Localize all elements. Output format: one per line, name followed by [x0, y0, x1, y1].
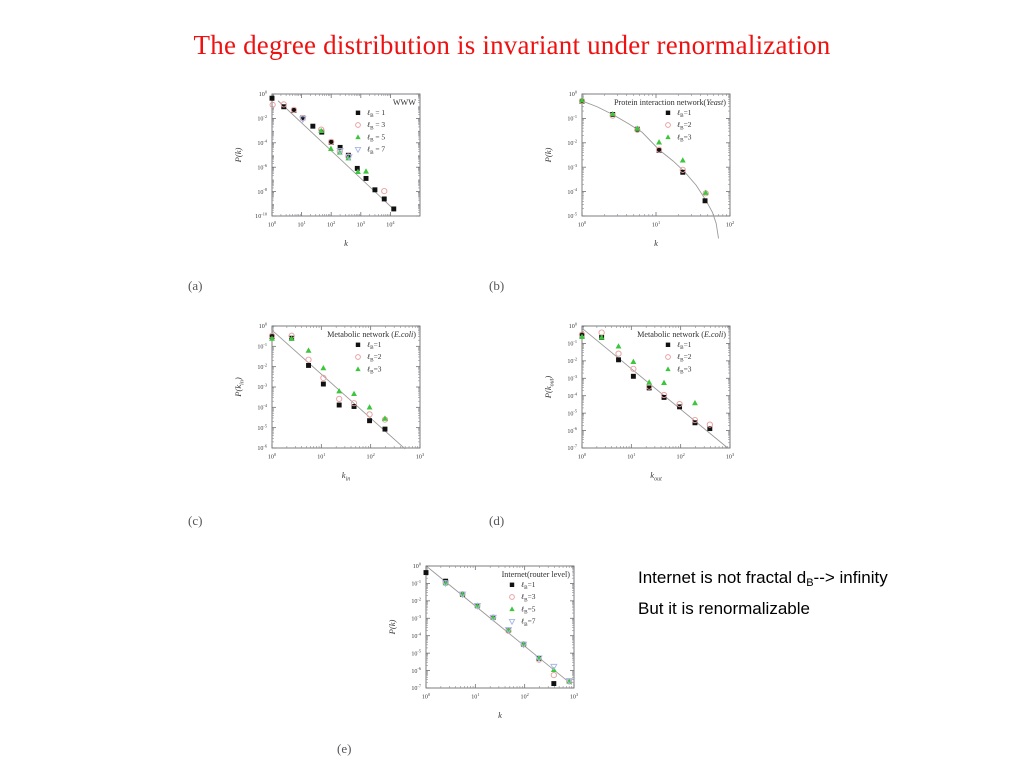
svg-text:100: 100	[422, 692, 430, 701]
chart-panel-protein: 10010110210010-110-210-310-410-5kP(k)Pro…	[542, 84, 742, 250]
panel-a-legend: ℓB = 1ℓB = 3ℓB = 5ℓB = 7	[355, 108, 385, 156]
svg-text:103: 103	[416, 452, 424, 461]
panel-a-title: WWW	[393, 98, 416, 107]
svg-text:102: 102	[367, 452, 375, 461]
panel-c-x-axis: 100101102103	[268, 326, 424, 461]
panel-d-legend-label-0: ℓB=1	[677, 340, 692, 351]
panel-label-a: (a)	[188, 278, 202, 294]
svg-text:100: 100	[268, 220, 276, 229]
svg-text:10-4: 10-4	[411, 631, 422, 640]
panel-a-series-3	[300, 117, 352, 160]
panel-c-legend-label-1: ℓB=2	[367, 352, 382, 363]
panel-c-legend-label-2: ℓB=3	[367, 364, 382, 375]
panel-e-title: Internet(router level)	[502, 570, 571, 579]
panel-a-y-axis: 10010-210-410-610-810-10	[255, 90, 420, 221]
panel-d-series-0	[580, 333, 713, 431]
svg-text:100: 100	[578, 220, 586, 229]
panel-d-legend: ℓB=1ℓB=2ℓB=3	[665, 340, 691, 376]
panel-e-legend-label-1: ℓB=3	[521, 592, 536, 603]
panel-e-legend-label-2: ℓB=5	[521, 604, 536, 615]
panel-b-svg: 10010110210010-110-210-310-410-5kP(k)Pro…	[542, 84, 742, 250]
svg-text:10-4: 10-4	[567, 391, 578, 400]
svg-text:101: 101	[627, 452, 635, 461]
panel-b-fit-curve	[582, 101, 719, 239]
svg-text:10-7: 10-7	[411, 684, 422, 693]
panel-b-ylabel: P(k)	[543, 147, 553, 163]
panel-a-series-2	[318, 128, 369, 174]
svg-text:102: 102	[726, 220, 734, 229]
svg-text:103: 103	[726, 452, 734, 461]
panel-b-legend: ℓB=1ℓB=2ℓB=3	[665, 108, 691, 144]
chart-panel-www: 10010110210310410010-210-410-610-810-10k…	[232, 84, 432, 250]
panel-d-x-axis: 100101102103	[578, 326, 734, 461]
panel-label-d: (d)	[489, 513, 504, 529]
panel-d-series-1	[579, 330, 712, 427]
svg-text:P(k): P(k)	[233, 147, 243, 163]
svg-text:102: 102	[327, 220, 335, 229]
annotation-subscript: B	[806, 577, 813, 589]
panel-e-legend-label-3: ℓB=7	[521, 617, 536, 628]
svg-text:103: 103	[357, 220, 365, 229]
chart-panel-internet: 10010110210310010-110-210-310-410-510-61…	[386, 556, 586, 722]
panel-a-legend-label-3: ℓB = 7	[367, 145, 385, 156]
svg-text:10-6: 10-6	[567, 426, 578, 435]
svg-text:10-1: 10-1	[567, 339, 577, 348]
svg-text:10-4: 10-4	[257, 138, 268, 147]
svg-text:10-2: 10-2	[257, 362, 267, 371]
svg-text:10-5: 10-5	[567, 212, 577, 221]
panel-c-legend: ℓB=1ℓB=2ℓB=3	[355, 340, 381, 376]
svg-text:P(k): P(k)	[543, 147, 553, 163]
svg-text:100: 100	[259, 90, 267, 99]
panel-label-e: (e)	[337, 741, 351, 757]
page-title: The degree distribution is invariant und…	[0, 30, 1024, 61]
panel-e-series-0	[424, 570, 557, 686]
svg-text:101: 101	[297, 220, 305, 229]
svg-text:10-6: 10-6	[411, 666, 422, 675]
svg-text:104: 104	[386, 220, 395, 229]
svg-text:10-6: 10-6	[257, 444, 268, 453]
svg-text:101: 101	[317, 452, 325, 461]
svg-text:10-2: 10-2	[411, 596, 421, 605]
svg-text:10-3: 10-3	[411, 614, 421, 623]
panel-label-c: (c)	[188, 513, 202, 529]
panel-a-fit-line	[278, 101, 394, 210]
svg-text:10-1: 10-1	[567, 114, 577, 123]
panel-e-svg: 10010110210310010-110-210-310-410-510-61…	[386, 556, 586, 722]
panel-e-ylabel: P(k)	[387, 619, 397, 635]
svg-text:10-3: 10-3	[257, 383, 267, 392]
chart-panel-metabolic-out: 10010110210310010-110-210-310-410-510-61…	[542, 316, 742, 482]
panel-e-xlabel: k	[498, 710, 502, 720]
panel-c-xlabel: kin	[342, 470, 351, 482]
svg-text:100: 100	[569, 90, 577, 99]
panel-b-legend-label-1: ℓB=2	[677, 120, 692, 131]
svg-text:P(k): P(k)	[387, 619, 397, 635]
annotation-line-1-post: --> infinity	[814, 568, 888, 587]
panel-b-legend-label-2: ℓB=3	[677, 132, 692, 143]
svg-text:10-7: 10-7	[567, 444, 578, 453]
panel-b-legend-label-0: ℓB=1	[677, 108, 692, 119]
svg-text:100: 100	[259, 322, 267, 331]
panel-d-fit-line	[582, 328, 728, 448]
svg-text:100: 100	[578, 452, 586, 461]
panel-c-y-axis: 10010-110-210-310-410-510-6	[257, 322, 420, 453]
panel-a-xlabel: k	[344, 238, 348, 248]
svg-text:100: 100	[268, 452, 276, 461]
svg-text:10-2: 10-2	[567, 138, 577, 147]
svg-text:P(kout): P(kout)	[543, 376, 555, 400]
panel-a-legend-label-1: ℓB = 3	[367, 120, 385, 131]
annotation-line-1-pre: Internet is not fractal d	[638, 568, 806, 587]
panel-label-b: (b)	[489, 278, 504, 294]
svg-text:P(kin): P(kin)	[233, 377, 245, 398]
panel-e-fit-line	[428, 568, 572, 685]
panel-a-legend-label-0: ℓB = 1	[367, 108, 385, 119]
annotation-text: Internet is not fractal dB--> infinity B…	[638, 565, 888, 621]
svg-text:10-2: 10-2	[567, 356, 577, 365]
panel-b-title: Protein interaction network(Yeast)	[614, 98, 726, 107]
panel-d-svg: 10010110210310010-110-210-310-410-510-61…	[542, 316, 742, 482]
svg-text:10-4: 10-4	[257, 403, 268, 412]
panel-d-title: Metabolic network (E.coli)	[637, 330, 726, 339]
panel-a-svg: 10010110210310410010-210-410-610-810-10k…	[232, 84, 432, 250]
svg-text:100: 100	[413, 562, 421, 571]
panel-e-legend-label-0: ℓB=1	[521, 580, 536, 591]
svg-text:10-1: 10-1	[411, 579, 421, 588]
svg-text:10-2: 10-2	[257, 114, 267, 123]
svg-text:101: 101	[471, 692, 479, 701]
svg-text:10-3: 10-3	[567, 374, 577, 383]
panel-c-ylabel: P(kin)	[233, 377, 245, 398]
panel-e-legend: ℓB=1ℓB=3ℓB=5ℓB=7	[509, 580, 535, 628]
panel-b-xlabel: k	[654, 238, 658, 248]
svg-text:10-6: 10-6	[257, 163, 268, 172]
panel-c-svg: 10010110210310010-110-210-310-410-510-6k…	[232, 316, 432, 482]
panel-c-title: Metabolic network (E.coli)	[327, 330, 416, 339]
svg-text:101: 101	[652, 220, 660, 229]
svg-text:100: 100	[569, 322, 577, 331]
svg-text:103: 103	[570, 692, 578, 701]
svg-text:10-3: 10-3	[567, 163, 577, 172]
panel-d-legend-label-1: ℓB=2	[677, 352, 692, 363]
panel-e-y-axis: 10010-110-210-310-410-510-610-7	[411, 562, 574, 693]
annotation-line-2: But it is renormalizable	[638, 596, 888, 621]
panel-d-xlabel: kout	[650, 470, 662, 482]
svg-text:102: 102	[521, 692, 529, 701]
panel-a-ylabel: P(k)	[233, 147, 243, 163]
chart-panel-metabolic-in: 10010110210310010-110-210-310-410-510-6k…	[232, 316, 432, 482]
svg-text:10-10: 10-10	[255, 212, 267, 221]
panel-c-legend-label-0: ℓB=1	[367, 340, 382, 351]
panel-d-legend-label-2: ℓB=3	[677, 364, 692, 375]
svg-text:10-4: 10-4	[567, 187, 578, 196]
panel-a-legend-label-2: ℓB = 5	[367, 132, 385, 143]
svg-text:10-5: 10-5	[257, 423, 267, 432]
svg-text:10-1: 10-1	[257, 342, 267, 351]
panel-d-ylabel: P(kout)	[543, 376, 555, 400]
svg-text:10-8: 10-8	[257, 187, 267, 196]
svg-text:10-5: 10-5	[411, 649, 421, 658]
svg-text:102: 102	[677, 452, 685, 461]
annotation-line-1: Internet is not fractal dB--> infinity	[638, 565, 888, 596]
svg-text:10-5: 10-5	[567, 409, 577, 418]
